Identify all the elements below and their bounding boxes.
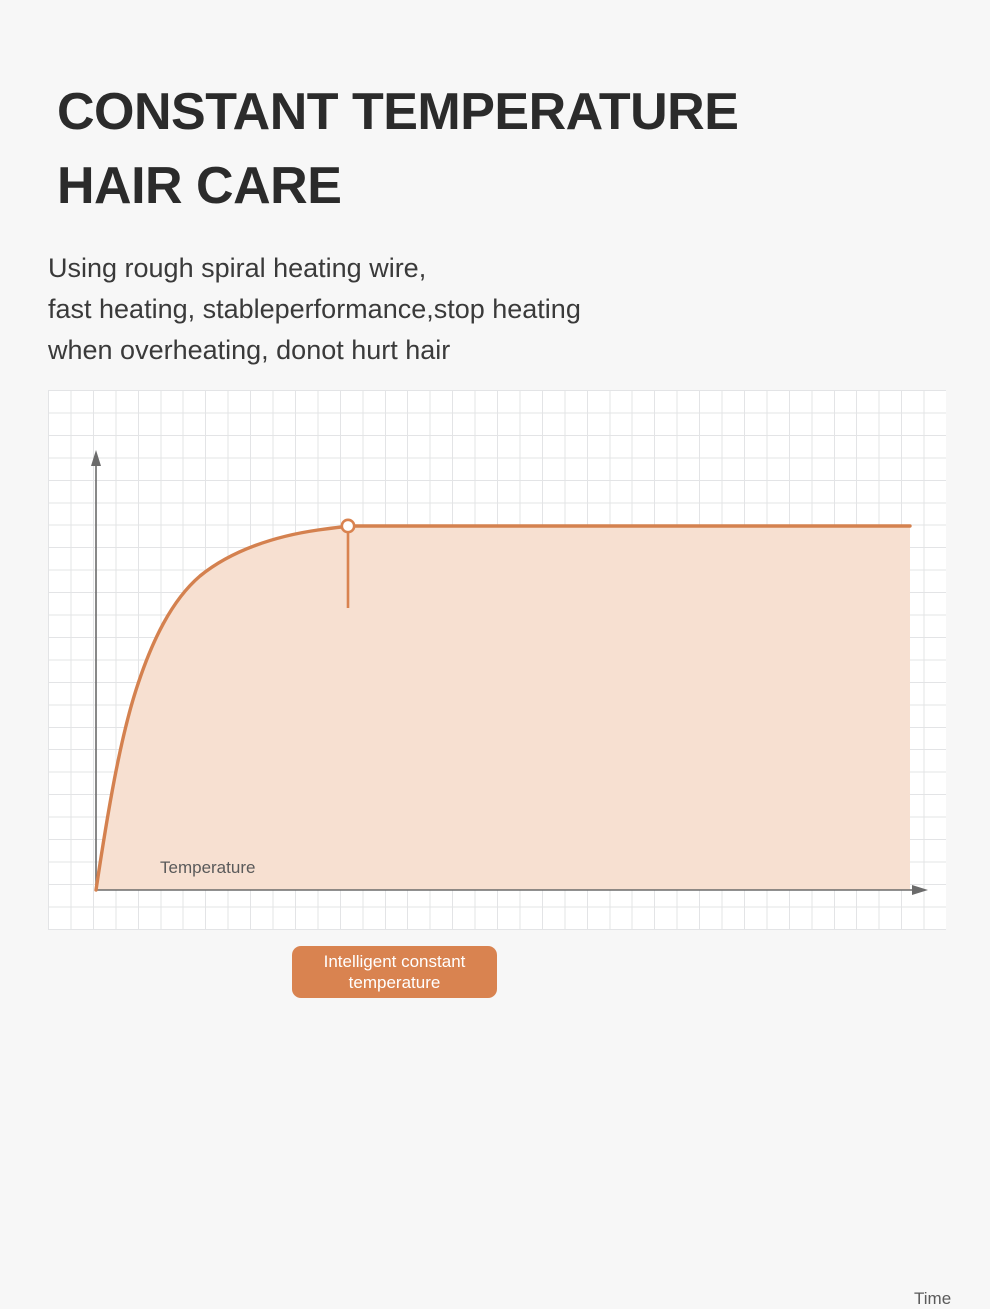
x-axis-arrow — [912, 885, 928, 895]
temperature-time-chart: Intelligent constant temperature Tempera… — [48, 390, 946, 930]
curve-fill — [96, 526, 910, 890]
page-title: CONSTANT TEMPERATURE HAIR CARE — [57, 76, 917, 224]
x-axis-label: Time — [914, 1289, 951, 1309]
callout-marker — [342, 520, 354, 532]
page-subtitle: Using rough spiral heating wire, fast he… — [48, 248, 928, 371]
infographic-page: CONSTANT TEMPERATURE HAIR CARE Using rou… — [0, 0, 990, 990]
y-axis-label: Temperature — [160, 858, 255, 878]
y-axis-arrow — [91, 450, 101, 466]
callout-label: Intelligent constant temperature — [292, 946, 497, 998]
chart-plot — [48, 390, 946, 930]
